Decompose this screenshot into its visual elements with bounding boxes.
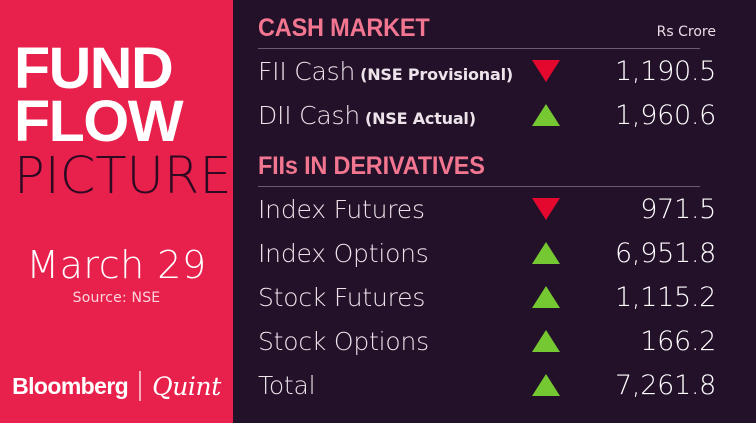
headline-line-1: FUND (14, 42, 228, 95)
section-fii-derivatives: FIIs IN DERIVATIVES Index Futures 971.5 … (258, 152, 725, 407)
row-value-stock-futures: 1,115.2 (574, 282, 725, 313)
table-row: DII Cash(NSE Actual) 1,960.6 (258, 93, 725, 137)
logo-divider (139, 371, 141, 401)
data-panel: CASH MARKET Rs Crore FII Cash(NSE Provis… (233, 0, 756, 423)
arrow-down-icon (532, 198, 560, 220)
row-label-dii-cash: DII Cash(NSE Actual) (258, 101, 518, 130)
row-sublabel-text: (NSE Provisional) (360, 65, 513, 84)
headline-line-3: PICTURE (14, 151, 224, 202)
direction-indicator-fii-cash (518, 60, 574, 82)
row-label-text: Stock Futures (258, 283, 425, 312)
row-label-text: Total (258, 371, 315, 400)
table-row: Stock Options 166.2 (258, 319, 725, 363)
logo-bloomberg-text: Bloomberg (12, 373, 128, 400)
fund-flow-infographic: FUND FLOW PICTURE March 29 Source: NSE B… (0, 0, 756, 423)
arrow-up-icon (532, 286, 560, 308)
headline-line-2: FLOW (14, 95, 228, 148)
direction-indicator-total (518, 374, 574, 396)
table-row: Index Options 6,951.8 (258, 231, 725, 275)
arrow-up-icon (532, 330, 560, 352)
headline-block: FUND FLOW PICTURE (14, 42, 224, 202)
bloomberg-quint-logo: Bloomberg Quint (0, 371, 233, 401)
table-row: Stock Futures 1,115.2 (258, 275, 725, 319)
row-value-fii-cash: 1,190.5 (574, 56, 725, 87)
direction-indicator-index-futures (518, 198, 574, 220)
row-label-text: Stock Options (258, 327, 429, 356)
direction-indicator-index-options (518, 242, 574, 264)
arrow-up-icon (532, 374, 560, 396)
table-row: Total 7,261.8 (258, 363, 725, 407)
section-cash-market: CASH MARKET Rs Crore FII Cash(NSE Provis… (258, 14, 725, 137)
section-cash-market-header: CASH MARKET Rs Crore (258, 14, 725, 46)
report-date: March 29 (0, 243, 233, 287)
row-value-total: 7,261.8 (574, 370, 725, 401)
direction-indicator-stock-options (518, 330, 574, 352)
row-value-index-options: 6,951.8 (574, 238, 725, 269)
branding-panel: FUND FLOW PICTURE March 29 Source: NSE B… (0, 0, 233, 423)
data-source-label: Source: NSE (0, 290, 233, 306)
row-label-index-futures: Index Futures (258, 195, 518, 224)
row-label-text: Index Options (258, 239, 429, 268)
table-row: Index Futures 971.5 (258, 187, 725, 231)
row-label-text: DII Cash (258, 101, 360, 130)
row-sublabel-text: (NSE Actual) (365, 109, 476, 128)
direction-indicator-stock-futures (518, 286, 574, 308)
row-label-stock-options: Stock Options (258, 327, 518, 356)
logo-quint-text: Quint (152, 372, 221, 401)
table-row: FII Cash(NSE Provisional) 1,190.5 (258, 49, 725, 93)
unit-label-rs-crore: Rs Crore (657, 24, 725, 40)
row-value-index-futures: 971.5 (574, 194, 725, 225)
arrow-down-icon (532, 60, 560, 82)
arrow-up-icon (532, 242, 560, 264)
direction-indicator-dii-cash (518, 104, 574, 126)
row-label-text: FII Cash (258, 57, 355, 86)
row-label-fii-cash: FII Cash(NSE Provisional) (258, 57, 518, 86)
row-label-stock-futures: Stock Futures (258, 283, 518, 312)
row-value-dii-cash: 1,960.6 (574, 100, 725, 131)
row-label-text: Index Futures (258, 195, 425, 224)
section-fii-derivatives-header: FIIs IN DERIVATIVES (258, 152, 725, 184)
row-label-total: Total (258, 371, 518, 400)
section-fii-derivatives-title: FIIs IN DERIVATIVES (258, 152, 485, 181)
row-value-stock-options: 166.2 (574, 326, 725, 357)
arrow-up-icon (532, 104, 560, 126)
row-label-index-options: Index Options (258, 239, 518, 268)
section-cash-market-title: CASH MARKET (258, 14, 430, 43)
